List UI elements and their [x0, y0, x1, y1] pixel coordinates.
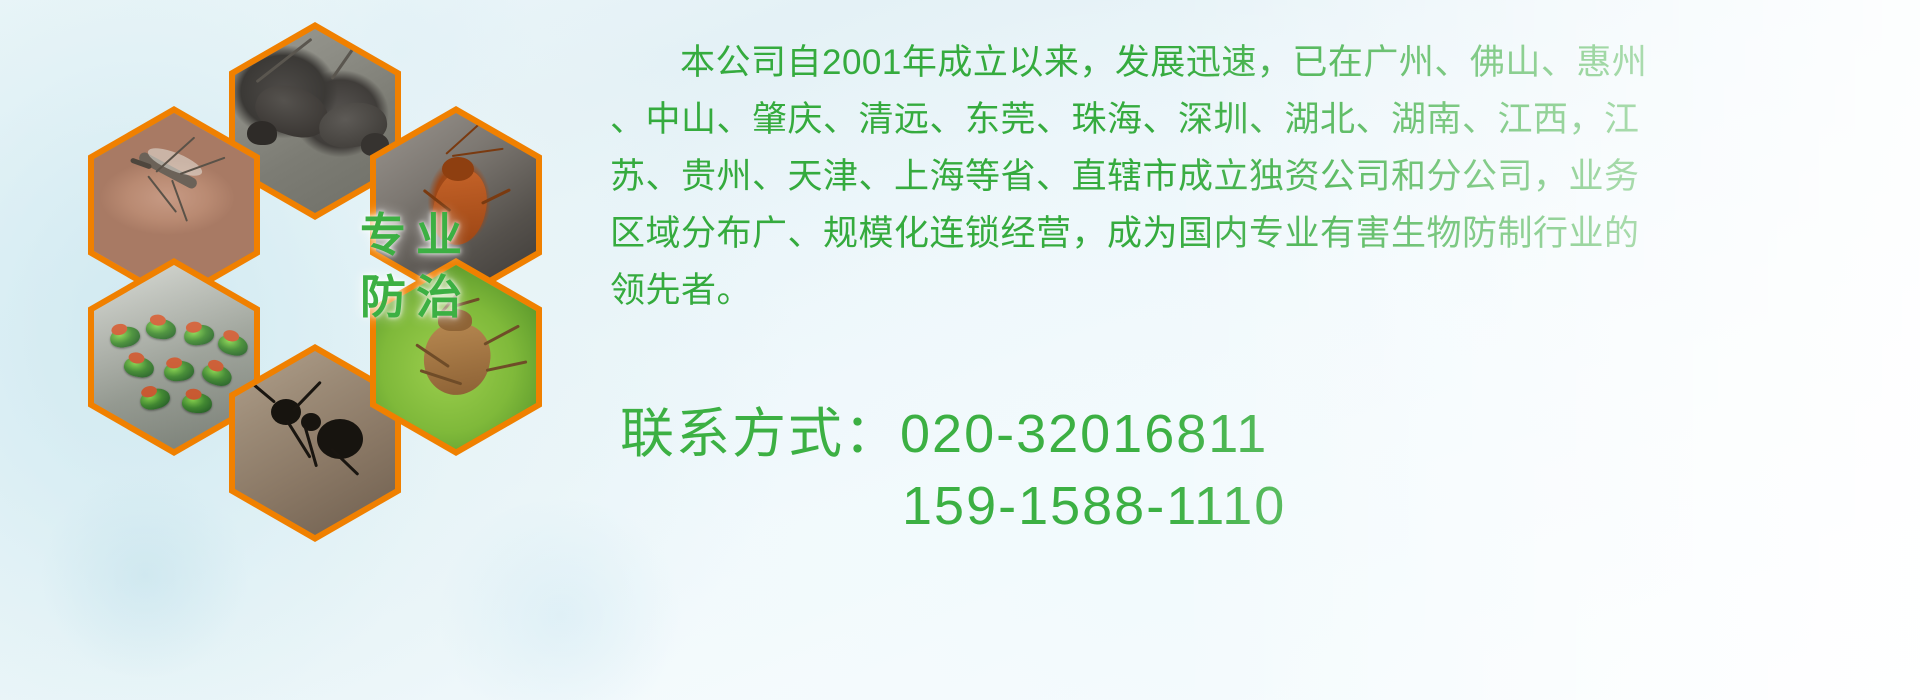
hexagon-photo-cluster: 专业 防治 [88, 8, 588, 568]
contact-phone-primary[interactable]: 020-32016811 [900, 404, 1268, 464]
description-line-5: 领先者。 [610, 262, 1910, 319]
description-line-3: 苏、贵州、天津、上海等省、直辖市成立独资公司和分公司，业务 [610, 148, 1910, 205]
stink-bug-on-leaf-image [376, 265, 536, 449]
contact-block: 联系方式：020-32016811 159-1588-1110 [620, 398, 1910, 542]
description-line-4: 区域分布广、规模化连锁经营，成为国内专业有害生物防制行业的 [610, 205, 1910, 262]
contact-primary-line: 联系方式：020-32016811 [620, 398, 1910, 470]
pest-control-banner: 专业 防治 本公司自2001年成立以来，发展迅速，已在广州、佛山、惠州 、中山、… [0, 0, 1920, 700]
company-description: 本公司自2001年成立以来，发展迅速，已在广州、佛山、惠州 、中山、肇庆、清远、… [610, 34, 1910, 319]
contact-label: 联系方式： [620, 404, 900, 464]
contact-phone-secondary[interactable]: 159-1588-1110 [620, 470, 1910, 542]
description-line-2: 、中山、肇庆、清远、东莞、珠海、深圳、湖北、湖南、江西，江 [610, 91, 1910, 148]
description-line-1: 本公司自2001年成立以来，发展迅速，已在广州、佛山、惠州 [610, 34, 1910, 91]
